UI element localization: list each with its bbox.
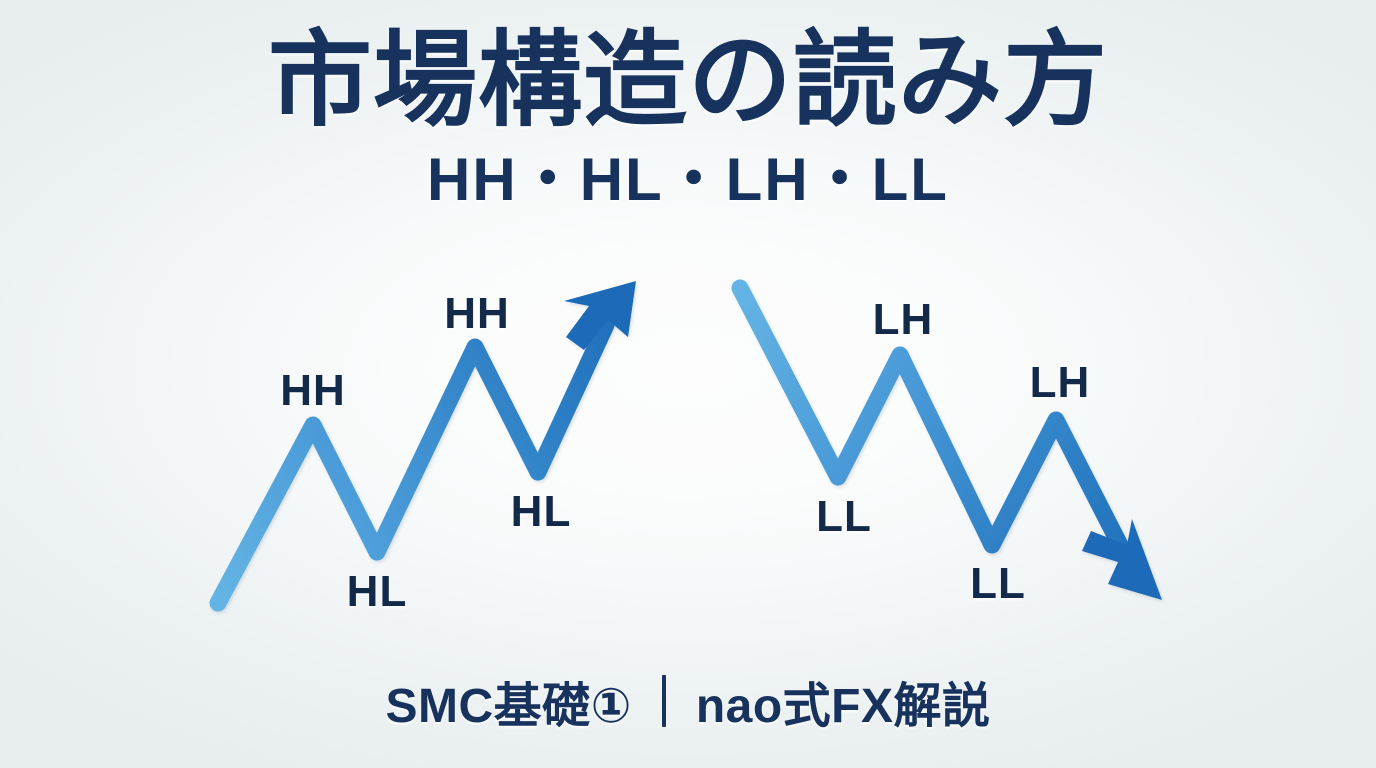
uptrend-arrowhead-icon — [564, 281, 636, 350]
footer-divider — [662, 675, 666, 727]
swing-label-ll-1: LL — [816, 492, 872, 542]
thumbnail-canvas: 市場構造の読み方 HH・HL・LH・LL — [0, 0, 1376, 768]
page-title: 市場構造の読み方 — [0, 0, 1376, 143]
swing-label-hl-2: HL — [511, 487, 572, 537]
swing-label-hh-2: HH — [444, 289, 510, 339]
swing-label-hh-1: HH — [280, 366, 346, 416]
footer-channel-label: nao式FX解説 — [696, 666, 991, 736]
page-subtitle: HH・HL・LH・LL — [0, 143, 1376, 213]
swing-label-hl-1: HL — [347, 567, 408, 617]
footer-caption: SMC基礎① nao式FX解説 — [0, 666, 1376, 736]
downtrend-arrowhead-icon — [1082, 519, 1162, 600]
downtrend-path-group — [740, 288, 1162, 600]
swing-label-ll-2: LL — [970, 559, 1026, 609]
title-block: 市場構造の読み方 HH・HL・LH・LL — [0, 0, 1376, 213]
uptrend-path-group — [218, 281, 636, 603]
swing-label-lh-2: LH — [1030, 358, 1091, 408]
swing-label-lh-1: LH — [873, 295, 934, 345]
uptrend-line — [218, 325, 606, 603]
footer-series-label: SMC基礎① — [386, 666, 632, 736]
